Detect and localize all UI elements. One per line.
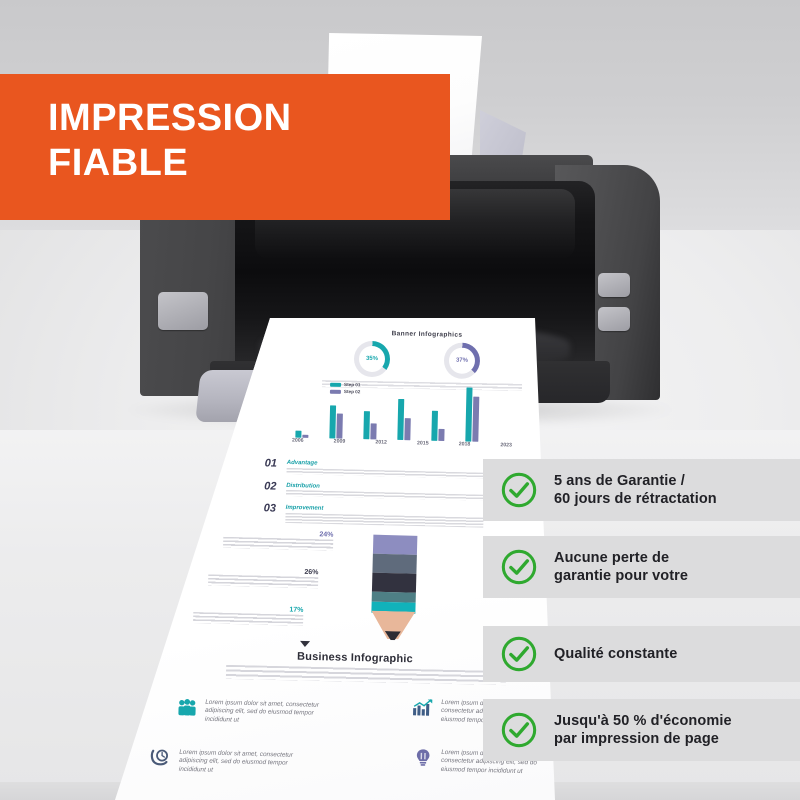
bar bbox=[363, 412, 370, 440]
printer-button-right-top bbox=[598, 273, 630, 297]
bar bbox=[336, 414, 343, 439]
feature-card-line-1: Qualité constante bbox=[554, 646, 677, 662]
feature-card-line-1: 5 ans de Garantie / bbox=[554, 473, 685, 489]
down-arrow-icon bbox=[300, 641, 310, 647]
x-tick-label: 2009 bbox=[334, 438, 346, 444]
feature-card-qualite[interactable]: Qualité constante bbox=[483, 626, 800, 682]
sheet-feature-clock: Lorem ipsum dolor sit amet, consectetur … bbox=[150, 748, 301, 777]
donut-chart-2: 37% bbox=[444, 342, 481, 379]
feature-card-text: 5 ans de Garantie / 60 jours de rétracta… bbox=[554, 472, 717, 508]
feature-card-line-2: par impression de page bbox=[554, 731, 719, 747]
bar-group bbox=[465, 387, 479, 442]
bar-group bbox=[397, 399, 411, 441]
check-circle-icon bbox=[500, 548, 538, 586]
step-item: 03 Improvement bbox=[263, 502, 483, 527]
headline-text: IMPRESSION FIABLE bbox=[0, 74, 450, 186]
feature-card-perte[interactable]: Aucune perte de garantie pour votre bbox=[483, 536, 800, 598]
lightbulb-icon bbox=[412, 748, 434, 767]
feature-card-line-2: garantie pour votre bbox=[554, 568, 688, 584]
sheet-feature-people: Lorem ipsum dolor sit amet, consectetur … bbox=[176, 698, 327, 727]
pencil-graphic bbox=[371, 535, 418, 640]
people-group-icon bbox=[176, 698, 198, 717]
funnel-item: 24% bbox=[223, 529, 333, 551]
printer-button-right-bottom bbox=[598, 307, 630, 331]
funnel-item: 17% bbox=[193, 604, 303, 626]
step-number: 01 bbox=[265, 457, 281, 469]
x-tick-label: 2006 bbox=[292, 438, 304, 444]
growth-chart-icon bbox=[412, 698, 434, 717]
feature-card-text: Qualité constante bbox=[554, 645, 677, 663]
bar bbox=[465, 387, 472, 441]
step-number: 02 bbox=[264, 480, 280, 492]
feature-card-line-1: Aucune perte de bbox=[554, 550, 669, 566]
donut-chart-1: 35% bbox=[354, 341, 391, 378]
bar-group bbox=[431, 410, 445, 441]
check-circle-icon bbox=[500, 711, 538, 749]
sheet-feature-text: Lorem ipsum dolor sit amet, consectetur … bbox=[179, 749, 301, 777]
funnel-item: 26% bbox=[208, 566, 318, 588]
feature-card-line-1: Jusqu'à 50 % d'économie bbox=[554, 713, 732, 729]
bar bbox=[397, 399, 404, 440]
feature-card-economie[interactable]: Jusqu'à 50 % d'économie par impression d… bbox=[483, 699, 800, 761]
funnel-text-placeholder bbox=[208, 574, 318, 588]
bar-chart bbox=[295, 378, 506, 443]
x-tick-label: 2023 bbox=[500, 442, 512, 448]
donut-chart-2-label: 37% bbox=[449, 347, 475, 373]
headline-line-1: IMPRESSION bbox=[48, 97, 292, 139]
funnel-pencil-chart: 24% 26% 17% bbox=[221, 529, 474, 648]
clock-phone-icon bbox=[150, 748, 172, 767]
printer-button-left bbox=[158, 292, 208, 330]
feature-card-text: Aucune perte de garantie pour votre bbox=[554, 549, 688, 585]
step-number: 03 bbox=[264, 502, 280, 514]
headline-line-2: FIABLE bbox=[48, 142, 188, 184]
bar bbox=[370, 423, 376, 439]
x-tick-label: 2012 bbox=[375, 439, 387, 445]
feature-card-garantie[interactable]: 5 ans de Garantie / 60 jours de rétracta… bbox=[483, 459, 800, 521]
step-item: 02 Distribution bbox=[264, 480, 484, 501]
bar bbox=[329, 405, 336, 438]
bar bbox=[438, 429, 444, 441]
feature-card-line-2: 60 jours de rétractation bbox=[554, 491, 717, 507]
bar bbox=[472, 397, 479, 442]
bar bbox=[404, 418, 410, 440]
check-circle-icon bbox=[500, 635, 538, 673]
donut-chart-1-label: 35% bbox=[359, 346, 385, 372]
bar-group bbox=[329, 405, 343, 439]
infographic-donut-row: 35% 37% bbox=[330, 338, 521, 380]
sheet-feature-text: Lorem ipsum dolor sit amet, consectetur … bbox=[205, 699, 327, 727]
headline-banner: IMPRESSION FIABLE bbox=[0, 74, 450, 220]
check-circle-icon bbox=[500, 471, 538, 509]
numbered-step-list: 01 Advantage 02 Distribution 03 Improvem… bbox=[263, 457, 485, 534]
poster-canvas: Banner Infographics 35% 37% Step 01 Step… bbox=[0, 0, 800, 800]
funnel-text-placeholder bbox=[223, 537, 333, 551]
feature-card-text: Jusqu'à 50 % d'économie par impression d… bbox=[554, 712, 732, 748]
bar bbox=[431, 410, 438, 441]
bar-group bbox=[363, 412, 377, 440]
x-tick-label: 2015 bbox=[417, 440, 429, 446]
x-tick-label: 2018 bbox=[459, 441, 471, 447]
